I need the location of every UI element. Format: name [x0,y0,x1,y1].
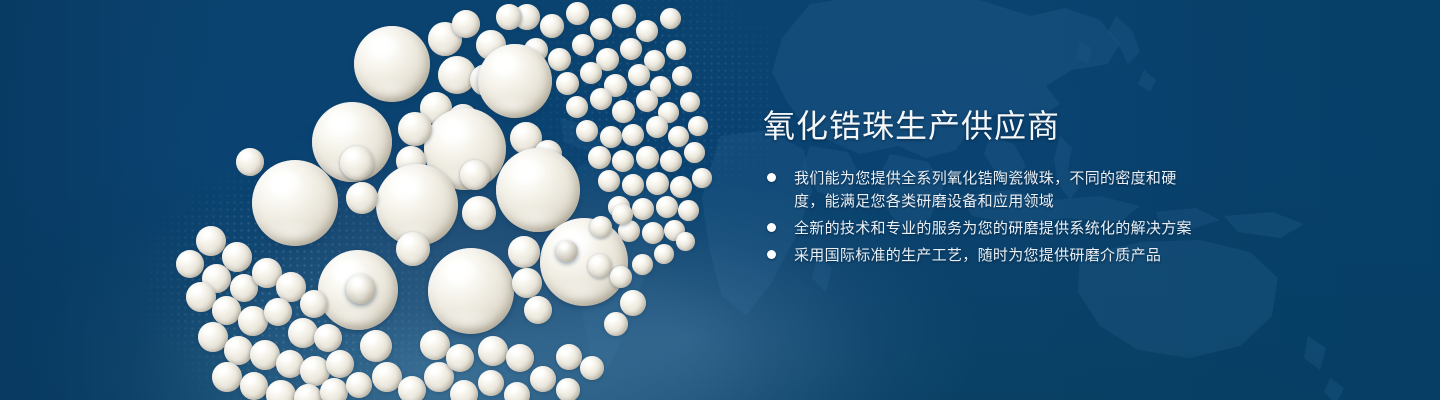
bead [632,198,654,220]
bead [212,296,241,325]
bead [446,344,474,372]
bead [478,44,552,118]
bead [478,370,504,396]
bead [288,318,318,348]
bead [612,204,633,225]
bead [548,48,571,71]
bead [452,10,480,38]
bead [590,18,612,40]
bead [588,146,611,169]
bead [676,232,695,251]
bead [398,112,432,146]
bead [240,372,268,400]
bead [398,376,426,400]
bead [588,254,612,278]
bead [524,296,552,324]
bead [460,160,490,190]
bead [224,336,253,365]
bead [642,222,664,244]
bead [598,170,620,192]
bead [628,64,650,86]
list-item-label: 我们能为您提供全系列氧化锆陶瓷微珠，不同的密度和硬度，能满足您各类研磨设备和应用… [794,167,1204,213]
filled-circle-bullet-icon [767,250,776,259]
bead [506,344,534,372]
bead [508,236,540,268]
bead [478,336,508,366]
bead [360,330,392,362]
bead [660,150,682,172]
bead [670,176,692,198]
bead [314,324,342,352]
bead [556,72,579,95]
bead [346,372,372,398]
bead [462,196,496,230]
filled-circle-bullet-icon [767,223,776,232]
bead [684,142,705,163]
banner-feature-list: 我们能为您提供全系列氧化锆陶瓷微珠，不同的密度和硬度，能满足您各类研磨设备和应用… [763,167,1363,267]
filled-circle-bullet-icon [767,173,776,182]
bead [530,366,556,392]
bead [540,14,564,38]
bead [566,2,589,25]
bead [646,116,668,138]
bead [572,34,594,56]
bead [252,160,338,246]
bead [610,266,632,288]
bead [450,380,478,400]
bead [566,96,588,118]
bead [612,150,634,172]
bead [580,62,602,84]
bead [346,274,376,304]
bead [354,26,430,102]
bead [646,172,669,195]
bead [496,148,580,232]
bead [300,290,328,318]
bead [580,356,604,380]
banner-copy: 氧化锆珠生产供应商 我们能为您提供全系列氧化锆陶瓷微珠，不同的密度和硬度，能满足… [763,106,1363,271]
bead [340,146,374,180]
bead [636,146,659,169]
bead [632,254,653,275]
list-item-label: 采用国际标准的生产工艺，随时为您提供研磨介质产品 [794,244,1161,267]
bead [600,126,622,148]
list-item-label: 全新的技术和专业的服务为您的研磨提供系统化的解决方案 [794,217,1192,240]
bead [672,66,692,86]
bead [692,168,712,188]
bead [678,200,699,221]
bead [656,196,678,218]
bead [212,362,242,392]
bead [612,100,635,123]
bead [590,216,612,238]
bead [660,8,681,29]
hero-banner: 氧化锆珠生产供应商 我们能为您提供全系列氧化锆陶瓷微珠，不同的密度和硬度，能满足… [0,0,1440,400]
bead [264,298,292,326]
bead [176,250,204,278]
bead [556,378,580,400]
bead [320,378,348,400]
bead [590,88,612,110]
bead [326,350,354,378]
bead [622,124,644,146]
bead [620,290,646,316]
bead [612,4,636,28]
bead [540,218,628,306]
bead [346,182,378,214]
list-item: 我们能为您提供全系列氧化锆陶瓷微珠，不同的密度和硬度，能满足您各类研磨设备和应用… [763,167,1363,213]
bead [236,148,264,176]
bead [666,40,686,60]
banner-headline: 氧化锆珠生产供应商 [763,106,1363,146]
bead [620,38,642,60]
bead [512,268,542,298]
bead [622,174,644,196]
bead [556,344,582,370]
bead [688,116,708,136]
bead [496,4,522,30]
bead [576,120,598,142]
bead [196,226,226,256]
list-item: 全新的技术和专业的服务为您的研磨提供系统化的解决方案 [763,217,1363,240]
list-item: 采用国际标准的生产工艺，随时为您提供研磨介质产品 [763,244,1363,267]
bead [668,126,689,147]
bead [680,92,700,112]
bead [396,232,430,266]
bead [556,240,578,262]
bead [654,244,674,264]
bead [604,312,628,336]
bead [636,20,658,42]
bead [636,90,658,112]
bead [428,248,514,334]
